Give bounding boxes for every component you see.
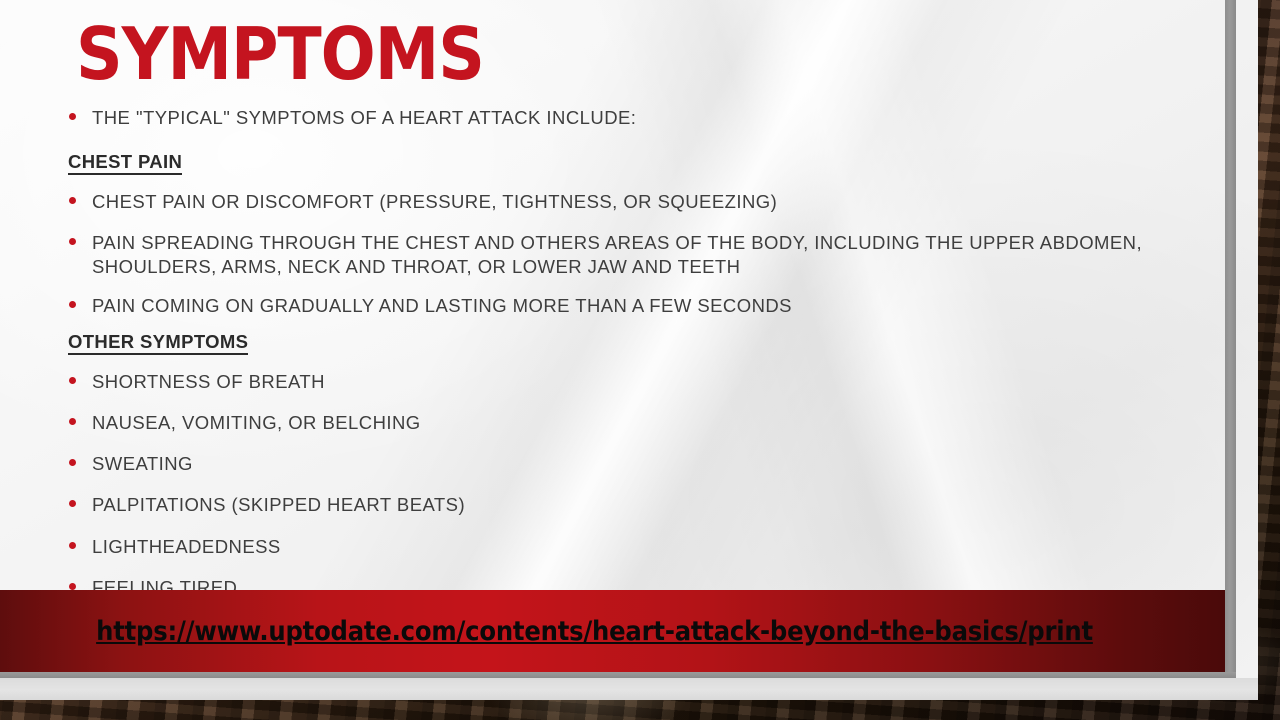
slide-backdrop: SYMPTOMS THE "TYPICAL" SYMPTOMS OF A HEA… (0, 0, 1280, 720)
list-item: LIGHTHEADEDNESS (0, 535, 1200, 559)
list-item: PAIN COMING ON GRADUALLY AND LASTING MOR… (0, 294, 1200, 318)
source-url-link[interactable]: https://www.uptodate.com/contents/heart-… (96, 616, 1093, 647)
page-title: SYMPTOMS (76, 18, 484, 90)
list-item: CHEST PAIN OR DISCOMFORT (PRESSURE, TIGH… (0, 190, 1200, 214)
slide-card: SYMPTOMS THE "TYPICAL" SYMPTOMS OF A HEA… (0, 0, 1258, 700)
section-heading-other-symptoms: OTHER SYMPTOMS (0, 330, 1200, 354)
list-item: NAUSEA, VOMITING, OR BELCHING (0, 411, 1200, 435)
slide-bottom-strip (0, 678, 1258, 700)
section-heading-chest-pain: CHEST PAIN (0, 150, 1200, 174)
source-banner: https://www.uptodate.com/contents/heart-… (0, 590, 1225, 672)
list-item: THE "TYPICAL" SYMPTOMS OF A HEART ATTACK… (0, 106, 1200, 130)
list-item: SWEATING (0, 452, 1200, 476)
list-item: PAIN SPREADING THROUGH THE CHEST AND OTH… (0, 231, 1200, 279)
section-heading-other-symptoms-label: OTHER SYMPTOMS (68, 331, 248, 355)
list-item: SHORTNESS OF BREATH (0, 370, 1200, 394)
list-item: PALPITATIONS (SKIPPED HEART BEATS) (0, 493, 1200, 517)
slide-right-edge-rule (1225, 0, 1236, 678)
slide-body: THE "TYPICAL" SYMPTOMS OF A HEART ATTACK… (0, 106, 1200, 658)
section-heading-chest-pain-label: CHEST PAIN (68, 151, 182, 175)
